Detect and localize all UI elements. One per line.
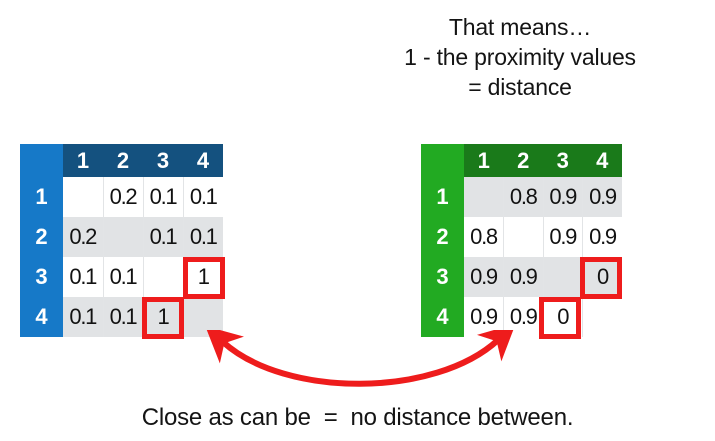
distance-col-header-3: 3 — [543, 144, 583, 177]
distance-cell-2-3: 0.9 — [543, 217, 583, 257]
table-row: 1 0.8 0.9 0.9 — [421, 177, 622, 217]
proximity-cell-3-2: 0.1 — [103, 257, 143, 297]
proximity-row-header-2: 2 — [20, 217, 63, 257]
distance-cell-3-1: 0.9 — [464, 257, 504, 297]
proximity-cell-3-3 — [143, 257, 183, 297]
distance-col-header-1: 1 — [464, 144, 504, 177]
distance-matrix: 1 2 3 4 1 0.8 0.9 0.9 2 0.8 0.9 0.9 3 0.… — [421, 144, 622, 337]
distance-cell-2-4: 0.9 — [583, 217, 623, 257]
proximity-cell-3-4: 1 — [183, 257, 223, 297]
distance-cell-1-4: 0.9 — [583, 177, 623, 217]
proximity-cell-1-3: 0.1 — [143, 177, 183, 217]
proximity-cell-2-2 — [103, 217, 143, 257]
distance-cell-2-2 — [504, 217, 544, 257]
distance-cell-2-1: 0.8 — [464, 217, 504, 257]
table-row: 4 0.1 0.1 1 — [20, 297, 223, 337]
proximity-cell-2-1: 0.2 — [63, 217, 103, 257]
top-caption-line-1: That means… — [355, 12, 685, 42]
distance-col-header-4: 4 — [583, 144, 623, 177]
top-caption-line-2: 1 - the proximity values — [355, 42, 685, 72]
table-row: 3 0.1 0.1 1 — [20, 257, 223, 297]
top-caption: That means… 1 - the proximity values = d… — [355, 12, 685, 102]
proximity-cell-2-3: 0.1 — [143, 217, 183, 257]
distance-cell-3-3 — [543, 257, 583, 297]
table-row: 3 0.9 0.9 0 — [421, 257, 622, 297]
proximity-cell-1-2: 0.2 — [103, 177, 143, 217]
distance-cell-3-4: 0 — [583, 257, 623, 297]
proximity-col-header-3: 3 — [143, 144, 183, 177]
distance-cell-4-3: 0 — [543, 297, 583, 337]
proximity-col-header-4: 4 — [183, 144, 223, 177]
proximity-col-header-1: 1 — [63, 144, 103, 177]
table-row: 2 0.2 0.1 0.1 — [20, 217, 223, 257]
proximity-col-header-2: 2 — [103, 144, 143, 177]
distance-cell-1-3: 0.9 — [543, 177, 583, 217]
distance-cell-4-4 — [583, 297, 623, 337]
proximity-cell-4-3: 1 — [143, 297, 183, 337]
proximity-cell-1-1 — [63, 177, 103, 217]
proximity-row-header-4: 4 — [20, 297, 63, 337]
table-row: 1 0.2 0.1 0.1 — [20, 177, 223, 217]
distance-cell-1-1 — [464, 177, 504, 217]
bottom-caption: Close as can be = no distance between. — [0, 403, 715, 433]
table-row: 2 0.8 0.9 0.9 — [421, 217, 622, 257]
double-headed-curved-arrow-icon — [195, 330, 525, 400]
proximity-matrix: 1 2 3 4 1 0.2 0.1 0.1 2 0.2 0.1 0.1 3 0.… — [20, 144, 223, 337]
proximity-cell-3-1: 0.1 — [63, 257, 103, 297]
proximity-cell-2-4: 0.1 — [183, 217, 223, 257]
distance-row-header-3: 3 — [421, 257, 464, 297]
distance-cell-3-2: 0.9 — [504, 257, 544, 297]
proximity-cell-1-4: 0.1 — [183, 177, 223, 217]
top-caption-line-3: = distance — [355, 72, 685, 102]
distance-row-header-2: 2 — [421, 217, 464, 257]
distance-row-header-1: 1 — [421, 177, 464, 217]
proximity-row-header-3: 3 — [20, 257, 63, 297]
proximity-cell-4-2: 0.1 — [103, 297, 143, 337]
distance-cell-1-2: 0.8 — [504, 177, 544, 217]
distance-corner-cell — [421, 144, 464, 177]
distance-col-header-2: 2 — [504, 144, 544, 177]
matrix-header-row: 1 2 3 4 — [421, 144, 622, 177]
proximity-corner-cell — [20, 144, 63, 177]
proximity-cell-4-1: 0.1 — [63, 297, 103, 337]
matrix-header-row: 1 2 3 4 — [20, 144, 223, 177]
proximity-row-header-1: 1 — [20, 177, 63, 217]
